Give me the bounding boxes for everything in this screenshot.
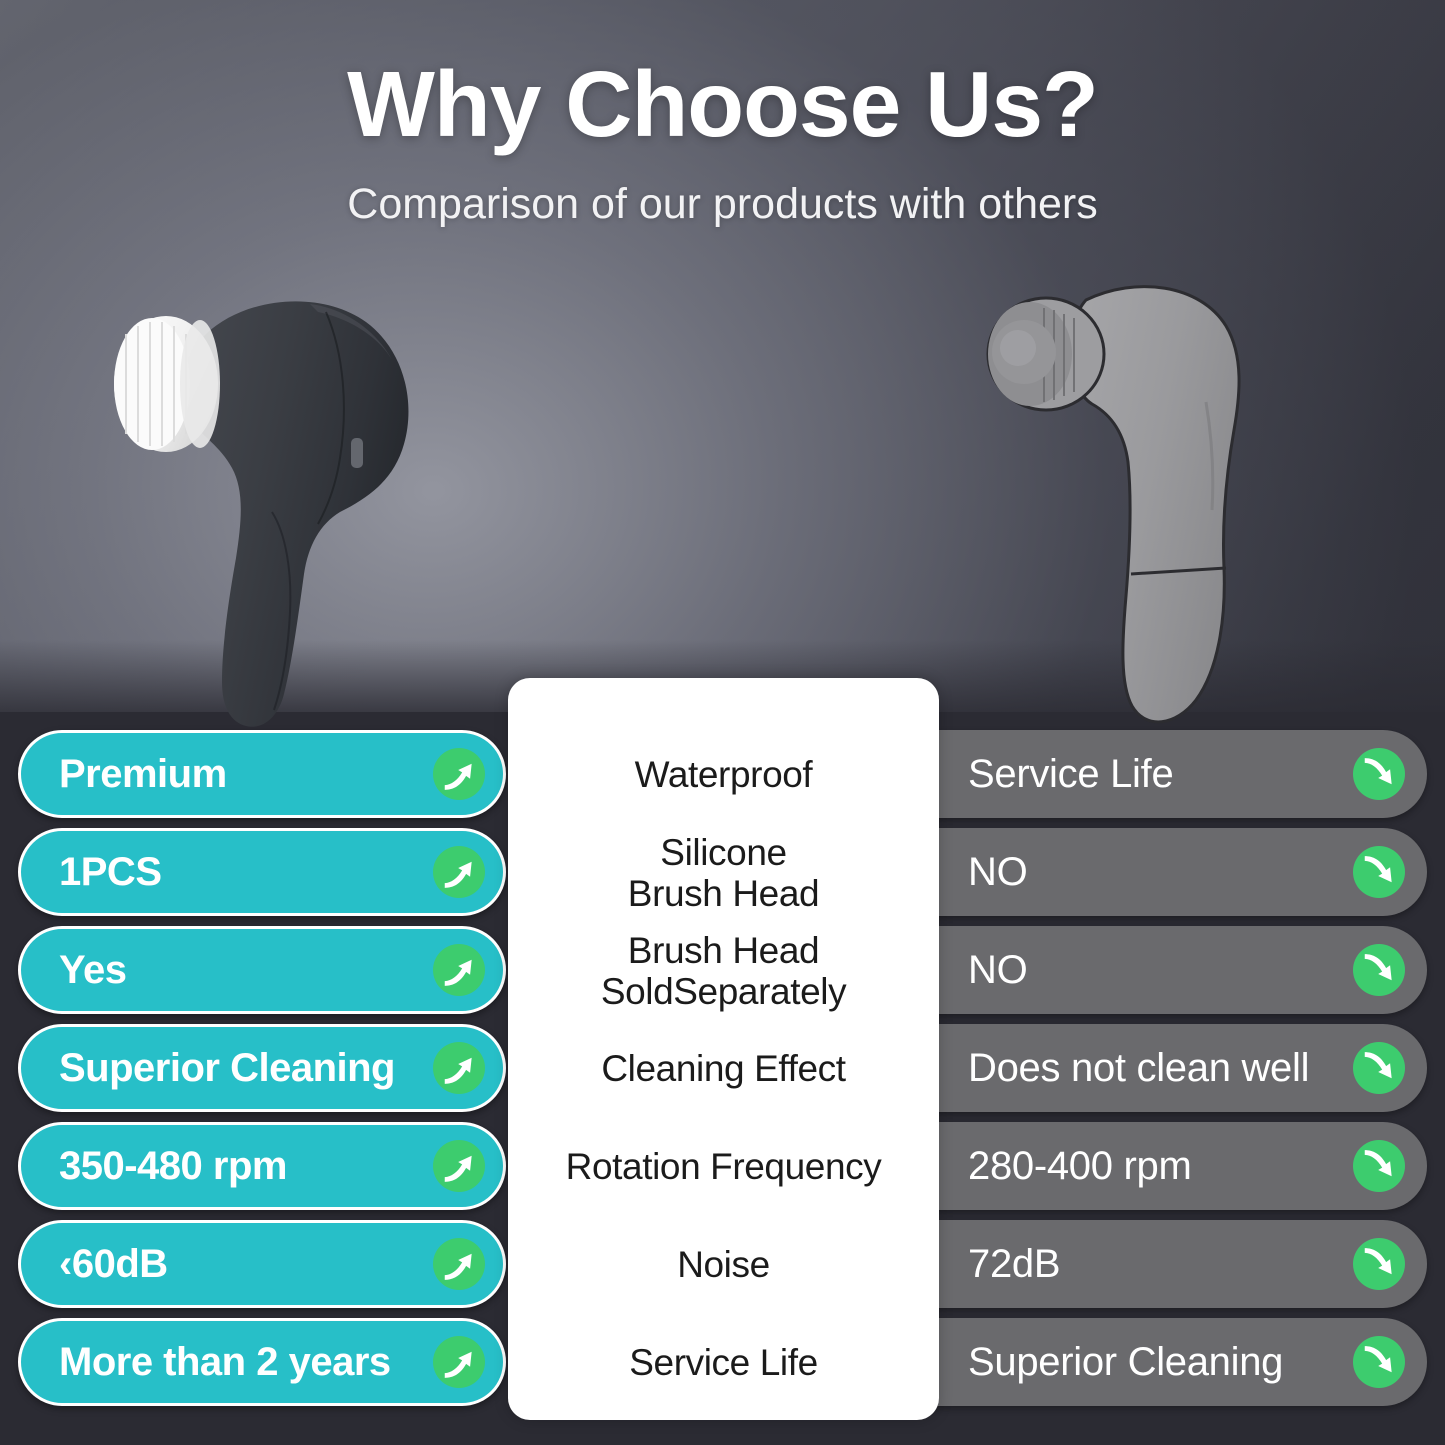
feature-label: Service Life [629,1342,818,1383]
our-value-pill[interactable]: Premium [18,730,506,818]
feature-row: SiliconeBrush Head [508,824,939,922]
their-value-pill[interactable]: Superior Cleaning [900,1318,1427,1406]
our-value-pill[interactable]: ‹60dB [18,1220,506,1308]
their-value-pill[interactable]: Service Life [900,730,1427,818]
feature-row: Noise [508,1216,939,1314]
their-value-label: NO [968,948,1353,993]
their-value-label: Does not clean well [968,1046,1353,1091]
arrow-down-icon [1353,1238,1405,1290]
growth-arrow-up-icon [433,944,485,996]
feature-label: Rotation Frequency [566,1146,882,1187]
their-value-label: Superior Cleaning [968,1340,1353,1385]
our-value-pill[interactable]: Superior Cleaning [18,1024,506,1112]
our-value-label: Yes [59,948,433,993]
feature-label: Brush HeadSoldSeparately [601,930,846,1013]
their-value-pill[interactable]: Does not clean well [900,1024,1427,1112]
feature-row: Brush HeadSoldSeparately [508,922,939,1020]
feature-row: Waterproof [508,726,939,824]
growth-arrow-up-icon [433,748,485,800]
feature-row: Service Life [508,1314,939,1412]
growth-arrow-up-icon [433,846,485,898]
header: Why Choose Us? Comparison of our product… [0,56,1445,229]
feature-label-panel: Waterproof SiliconeBrush Head Brush Head… [508,678,939,1420]
feature-label: Cleaning Effect [601,1048,845,1089]
arrow-down-icon [1353,1140,1405,1192]
their-value-pill[interactable]: NO [900,828,1427,916]
our-value-pill[interactable]: Yes [18,926,506,1014]
our-value-label: ‹60dB [59,1242,433,1287]
our-value-label: 1PCS [59,850,433,895]
growth-arrow-up-icon [433,1140,485,1192]
feature-row: Cleaning Effect [508,1020,939,1118]
their-value-pill[interactable]: NO [900,926,1427,1014]
feature-row: Rotation Frequency [508,1118,939,1216]
feature-label: SiliconeBrush Head [628,832,819,915]
our-value-label: Premium [59,752,433,797]
arrow-down-icon [1353,1042,1405,1094]
our-value-label: Superior Cleaning [59,1046,433,1091]
arrow-down-icon [1353,748,1405,800]
growth-arrow-up-icon [433,1042,485,1094]
our-value-label: More than 2 years [59,1340,433,1385]
our-product-image [96,262,436,732]
feature-label: Waterproof [635,754,813,795]
feature-label: Noise [677,1244,770,1285]
page-subtitle: Comparison of our products with others [0,180,1445,229]
their-value-label: 72dB [968,1242,1353,1287]
our-value-label: 350-480 rpm [59,1144,433,1189]
their-value-label: 280-400 rpm [968,1144,1353,1189]
growth-arrow-up-icon [433,1336,485,1388]
page-title: Why Choose Us? [0,56,1445,154]
their-value-pill[interactable]: 280-400 rpm [900,1122,1427,1210]
our-value-pill[interactable]: More than 2 years [18,1318,506,1406]
their-value-label: NO [968,850,1353,895]
our-value-pill[interactable]: 1PCS [18,828,506,916]
our-value-pill[interactable]: 350-480 rpm [18,1122,506,1210]
their-value-label: Service Life [968,752,1353,797]
arrow-down-icon [1353,846,1405,898]
arrow-down-icon [1353,1336,1405,1388]
growth-arrow-up-icon [433,1238,485,1290]
their-value-pill[interactable]: 72dB [900,1220,1427,1308]
competitor-product-image [968,262,1288,732]
arrow-down-icon [1353,944,1405,996]
